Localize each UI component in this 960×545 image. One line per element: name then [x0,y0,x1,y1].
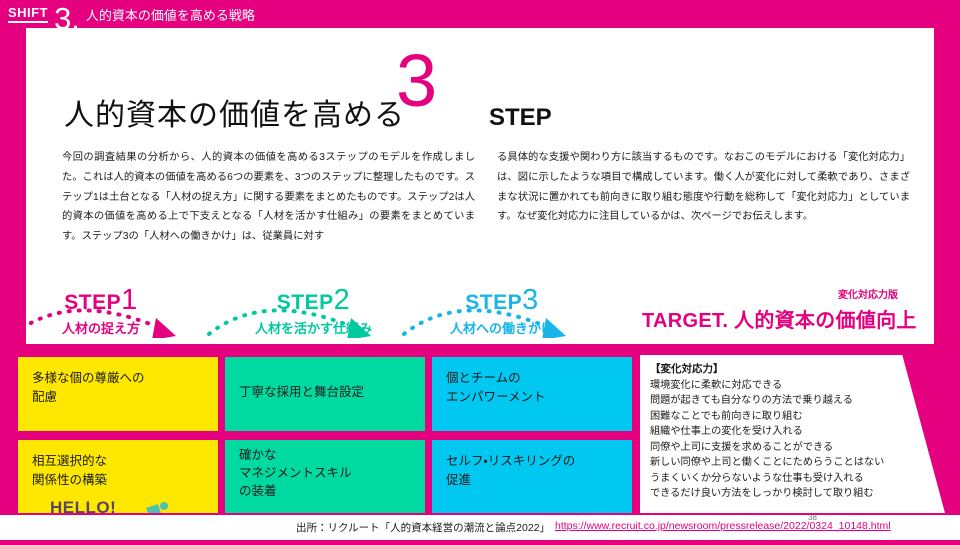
step-3-label: STEP3 [450,286,554,315]
element-card: 多様な個の尊厳への 配慮 [18,357,218,431]
header-section-title: 人的資本の価値を高める戦略 [86,9,255,22]
body-column-right: る具体的な支援や関わり方に該当するものです。なおこのモデルにおける「変化対応力」… [497,148,910,247]
slide-root: SHIFT 3. 人的資本の価値を高める戦略 3 人的資本の価値を高めるSTEP… [0,0,960,540]
page-title: 人的資本の価値を高めるSTEP [64,90,552,134]
element-card: 確かな マネジメントスキル の装着 [225,440,425,514]
adaptability-item: 環境変化に柔軟に対応できる [650,378,930,394]
page-title-step: STEP [489,104,552,131]
header-band: SHIFT 3. 人的資本の価値を高める戦略 [0,0,960,28]
body-text-right: る具体的な支援や関わり方に該当するものです。なおこのモデルにおける「変化対応力」… [497,148,910,227]
step-1-label: STEP1 [62,286,140,315]
shift-label: SHIFT [8,6,48,23]
step-2-number: 2 [334,284,351,316]
element-card: セルフ・リスキリングの 促進 [432,440,632,514]
body-columns: 今回の調査結果の分析から、人的資本の価値を高める3ステップのモデルを作成しました… [62,148,910,247]
step-1-subtitle: 人材の捉え方 [62,318,140,337]
adaptability-item: 問題が起きても自分なりの方法で乗り越える [650,393,930,409]
target-kicker: 変化対応力版 [838,286,898,301]
step-3-header: STEP3 人材への働きかけ [450,286,554,337]
adaptability-item: できるだけ良い方法をしっかり検討して取り組む [650,486,930,502]
adaptability-item: 新しい同僚や上司と働くことにためらうことはない [650,455,930,471]
body-text-left: 今回の調査結果の分析から、人的資本の価値を高める3ステップのモデルを作成しました… [62,148,475,247]
adaptability-item: 困難なことでも前向きに取り組む [650,409,930,425]
footer: 出所：リクルート「人的資本経営の潮流と論点2022」 https://www.r… [0,515,960,540]
step-2-subtitle: 人材を活かす仕組み [255,318,372,337]
step-1-number: 1 [121,284,138,316]
step-2-label-text: STEP [277,291,334,314]
header-content: SHIFT 3. 人的資本の価値を高める戦略 [8,0,255,28]
adaptability-heading: 【変化対応力】 [650,362,930,378]
element-card: 個とチームの エンパワーメント [432,357,632,431]
adaptability-item: うまくいくか分らないような仕事も受け入れる [650,471,930,487]
page-title-main: 人的資本の価値を高める [64,99,405,132]
target-heading: TARGET. 人的資本の価値向上 [642,304,917,333]
step-2-header: STEP2 人材を活かす仕組み [255,286,372,337]
step-2-label: STEP2 [255,286,372,315]
step-headers: STEP1 人材の捉え方 STEP2 人材を活かす仕組み STEP3 人材への働… [0,286,960,346]
adaptability-item: 組織や仕事上の変化を受け入れる [650,424,930,440]
element-card-grid: 多様な個の尊厳への 配慮 丁寧な採用と舞台設定 個とチームの エンパワーメント … [18,357,628,514]
step-1-header: STEP1 人材の捉え方 [62,286,140,337]
header-section-number: 3. [54,6,80,31]
step-3-number: 3 [522,284,539,316]
element-card: 丁寧な採用と舞台設定 [225,357,425,431]
footer-divider [0,513,960,515]
source-note: 出所：リクルート「人的資本経営の潮流と論点2022」 [296,520,550,535]
step-1-label-text: STEP [64,291,121,314]
source-url-link[interactable]: https://www.recruit.co.jp/newsroom/press… [555,520,891,532]
adaptability-panel: 【変化対応力】 環境変化に柔軟に対応できる 問題が起きても自分なりの方法で乗り越… [640,355,945,513]
step-3-subtitle: 人材への働きかけ [450,318,554,337]
body-column-left: 今回の調査結果の分析から、人的資本の価値を高める3ステップのモデルを作成しました… [62,148,475,247]
adaptability-panel-content: 【変化対応力】 環境変化に柔軟に対応できる 問題が起きても自分なりの方法で乗り越… [650,362,930,502]
adaptability-item: 同僚や上司に支援を求めることができる [650,440,930,456]
step-3-label-text: STEP [465,291,522,314]
